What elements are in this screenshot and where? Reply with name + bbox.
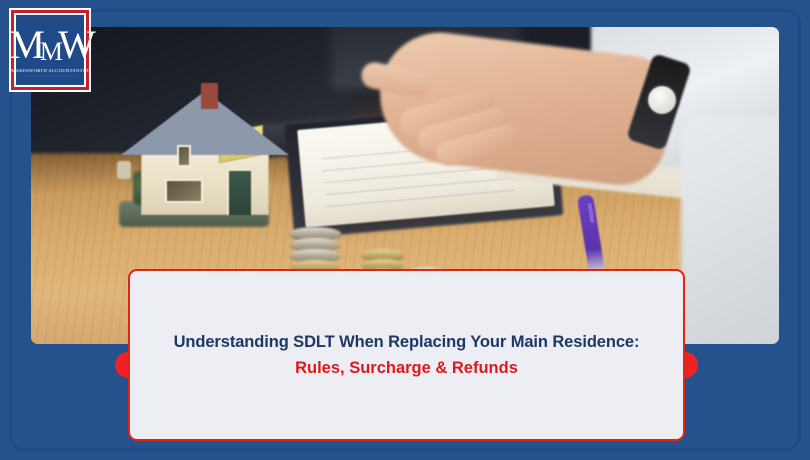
logo-divider bbox=[23, 75, 77, 76]
poster-canvas: MMW MAKESWORTH ACCOUNTANTS® Understandin… bbox=[0, 0, 810, 460]
house-door bbox=[227, 171, 251, 215]
logo-monogram-mid: M bbox=[40, 37, 58, 66]
logo-monogram-m: M bbox=[9, 22, 40, 67]
shirt-sleeve-lower bbox=[681, 117, 779, 344]
house-chimney bbox=[201, 83, 218, 109]
makesworth-accountants-logo[interactable]: MMW MAKESWORTH ACCOUNTANTS® bbox=[9, 8, 91, 92]
miniature-house-model bbox=[109, 73, 309, 233]
house-window bbox=[177, 145, 191, 167]
logo-company-name: MAKESWORTH ACCOUNTANTS® bbox=[11, 68, 89, 73]
logo-monogram-w: W bbox=[58, 22, 91, 67]
garden-post bbox=[117, 161, 131, 179]
logo-red-border: MMW MAKESWORTH ACCOUNTANTS® bbox=[11, 10, 89, 90]
house-window bbox=[165, 179, 203, 203]
page-title-line-2: Rules, Surcharge & Refunds bbox=[295, 356, 518, 380]
wristwatch-face bbox=[645, 83, 679, 117]
title-card: Understanding SDLT When Replacing Your M… bbox=[128, 269, 685, 441]
logo-inner-panel: MMW MAKESWORTH ACCOUNTANTS® bbox=[16, 15, 84, 85]
logo-monogram: MMW bbox=[9, 28, 90, 67]
page-title-line-1: Understanding SDLT When Replacing Your M… bbox=[174, 330, 640, 354]
